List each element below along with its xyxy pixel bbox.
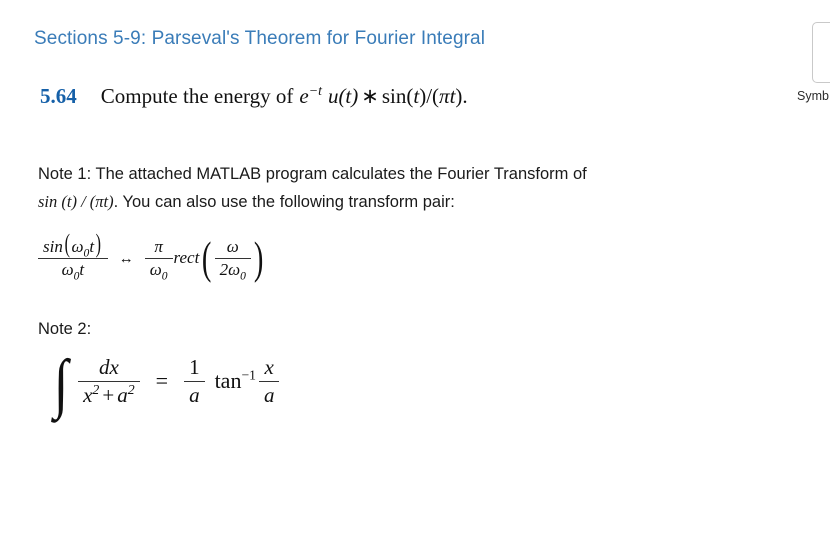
- lhs-omega: ω: [72, 237, 84, 256]
- pi-symbol: π: [439, 84, 450, 108]
- problem-closing: ).: [455, 84, 467, 108]
- lhs-t: t: [89, 237, 94, 256]
- problem-number: 5.64: [40, 84, 77, 109]
- lhs-den-omega: ω: [62, 260, 74, 279]
- note2-label: Note 2:: [38, 320, 91, 339]
- lhs-denominator: ω0t: [57, 259, 90, 280]
- note1-inline-math: sin (t) / (πt): [38, 192, 114, 211]
- integral-formula: ∫ dx x2+a2 = 1 a tan−1 x a: [52, 355, 279, 408]
- rect-arg-coef: 2: [220, 260, 229, 279]
- rhs-denominator: ω0: [145, 259, 173, 280]
- tan-label: tan: [215, 368, 242, 393]
- rhs-fraction: π ω0: [145, 237, 173, 280]
- arctangent-term: tan−1: [215, 368, 256, 394]
- tan-inverse-exponent: −1: [241, 368, 256, 383]
- side-panel-box[interactable]: [812, 22, 830, 83]
- rect-paren-close: ): [254, 244, 264, 273]
- exp-base: e: [299, 84, 308, 108]
- one-over-a-numerator: 1: [184, 355, 205, 381]
- integrand-plus: +: [99, 383, 117, 407]
- one-over-a-denominator: a: [184, 382, 205, 408]
- section-heading: Sections 5-9: Parseval's Theorem for Fou…: [34, 28, 485, 50]
- rect-argument-fraction: ω 2ω0: [215, 237, 251, 280]
- x-over-a-fraction: x a: [259, 355, 280, 408]
- lhs-numerator: sin(ω0t): [38, 236, 108, 258]
- rect-arg-numerator: ω: [222, 237, 244, 258]
- sin-open: sin(: [382, 84, 414, 108]
- rhs-numerator: π: [149, 237, 168, 258]
- convolution-operator: ∗: [361, 84, 379, 108]
- integrand-a-exponent: 2: [128, 382, 135, 397]
- step-function: u(t): [328, 84, 358, 108]
- note1-line-1: Note 1: The attached MATLAB program calc…: [38, 161, 778, 188]
- lhs-paren-open: (: [64, 236, 69, 252]
- integrand-a: a: [117, 383, 128, 407]
- problem-words: Compute the energy of: [101, 84, 294, 108]
- rect-function-label: rect: [173, 248, 200, 268]
- integrand-denominator: x2+a2: [78, 382, 140, 408]
- lhs-den-t: t: [79, 260, 84, 279]
- problem-text: Compute the energy ofe−tu(t)∗sin(t)/(πt)…: [101, 84, 468, 109]
- integrand-fraction: dx x2+a2: [78, 355, 140, 408]
- side-panel-label: Symb: [797, 89, 829, 103]
- rhs-den-omega: ω: [150, 260, 162, 279]
- lhs-paren-close: ): [96, 236, 101, 252]
- note1-block: Note 1: The attached MATLAB program calc…: [38, 161, 778, 216]
- integrand-numerator: dx: [94, 355, 124, 381]
- one-over-a-fraction: 1 a: [184, 355, 205, 408]
- equals-sign: =: [156, 368, 168, 394]
- rect-arg-omega: ω: [228, 260, 240, 279]
- rect-arg-subscript: 0: [240, 269, 246, 282]
- x-over-a-numerator: x: [260, 355, 279, 381]
- transform-arrow-icon: ↔: [119, 251, 134, 268]
- integral-sign-icon: ∫: [54, 360, 68, 408]
- slash-paren: )/(: [419, 84, 439, 108]
- transform-pair-formula: sin(ω0t) ω0t ↔ π ω0 rect ( ω 2ω0 ): [38, 236, 266, 280]
- rhs-den-subscript: 0: [162, 269, 168, 282]
- exp-exponent: −t: [309, 83, 322, 98]
- note1-line-2-rest: . You can also use the following transfo…: [114, 193, 455, 211]
- rect-paren-open: (: [202, 244, 212, 273]
- lhs-sin-label: sin: [43, 237, 63, 256]
- x-over-a-denominator: a: [259, 382, 280, 408]
- rect-arg-denominator: 2ω0: [215, 259, 251, 280]
- lhs-fraction: sin(ω0t) ω0t: [38, 236, 108, 280]
- note1-line-2: sin (t) / (πt). You can also use the fol…: [38, 188, 778, 216]
- problem-statement-row: 5.64 Compute the energy ofe−tu(t)∗sin(t)…: [40, 84, 468, 109]
